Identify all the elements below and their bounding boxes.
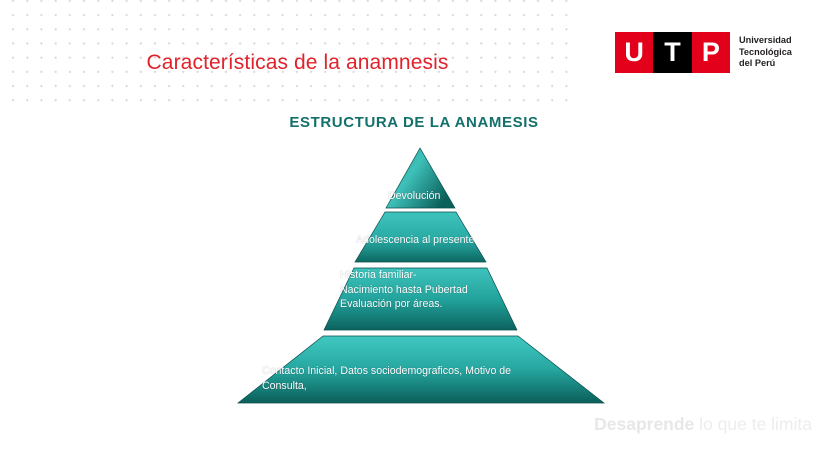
pyramid-tier-2-label: Adolescencia al presente (356, 233, 474, 248)
footer-tagline-bold: Desaprende (594, 414, 694, 434)
utp-logo-mark: U T P (615, 32, 730, 73)
pyramid-tier-4-label: Contacto Inicial, Datos sociodemografico… (262, 364, 511, 393)
footer-tagline-rest: lo que te limita (694, 414, 812, 434)
utp-letter-t: T (653, 32, 691, 73)
pyramid-heading: ESTRUCTURA DE LA ANAMESIS (0, 114, 828, 131)
page-title: Características de la anamnesis (0, 50, 595, 76)
utp-letter-u: U (615, 32, 653, 73)
pyramid-tier-1-label: Devolución (388, 189, 440, 204)
utp-logo-wordmark: Universidad Tecnológica del Perú (739, 35, 792, 69)
utp-wordmark-line-2: Tecnológica (739, 47, 792, 58)
utp-wordmark-line-3: del Perú (739, 58, 792, 69)
utp-logo: U T P Universidad Tecnológica del Perú (615, 32, 792, 73)
utp-letter-p: P (692, 32, 730, 73)
pyramid-tier-3-label: Historia familiar- Nacimiento hasta Pube… (340, 268, 468, 312)
utp-wordmark-line-1: Universidad (739, 35, 792, 46)
footer-tagline: Desaprende lo que te limita (594, 414, 812, 435)
slide-canvas: Características de la anamnesis U T P Un… (0, 0, 828, 466)
